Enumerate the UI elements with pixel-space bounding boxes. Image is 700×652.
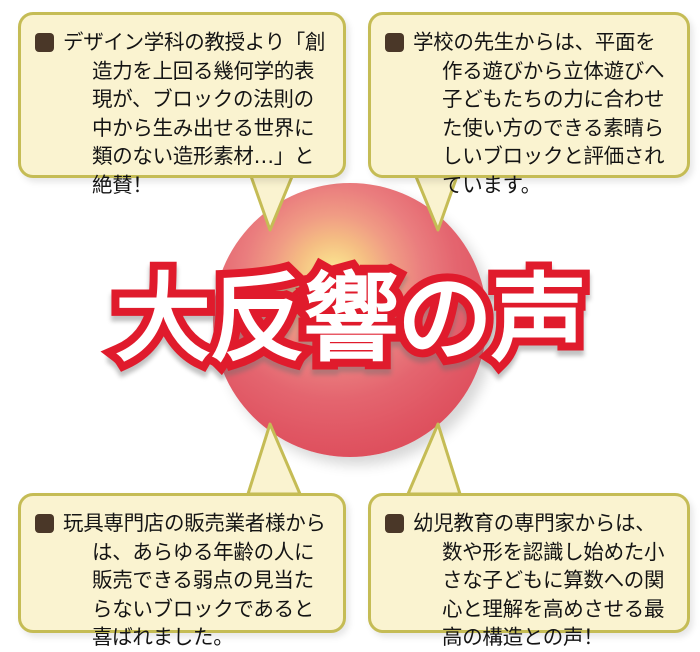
bubble-content: 幼児教育の専門家からは、数や形を認識し始めた小さな子どもに算数への関心と理解を高… (385, 509, 673, 652)
promo-graphic-stage: 大反響の声 大反響の声 大反響の声 デザイン学科の教授より「創造力を上回る幾何学… (0, 0, 700, 650)
testimonial-bubble-early-childhood-expert: 幼児教育の専門家からは、数や形を認識し始めた小さな子どもに算数への関心と理解を高… (368, 493, 690, 633)
testimonial-bubble-toy-retailer: 玩具専門店の販売業者様からは、あらゆる年齢の人に販売できる弱点の見当たらないブロ… (18, 493, 346, 633)
square-bullet-icon (35, 514, 54, 533)
square-bullet-icon (35, 33, 54, 52)
testimonial-text: デザイン学科の教授より「創造力を上回る幾何学的表現が、ブロックの法則の中から生み… (63, 28, 329, 199)
bubble-content: 学校の先生からは、平面を作る遊びから立体遊びへ子どもたちの力に合わせた使い方ので… (385, 28, 673, 199)
testimonial-text: 幼児教育の専門家からは、数や形を認識し始めた小さな子どもに算数への関心と理解を高… (413, 509, 673, 652)
bubble-content: デザイン学科の教授より「創造力を上回る幾何学的表現が、ブロックの法則の中から生み… (35, 28, 329, 199)
testimonial-bubble-design-professor: デザイン学科の教授より「創造力を上回る幾何学的表現が、ブロックの法則の中から生み… (18, 12, 346, 178)
bubble-content: 玩具専門店の販売業者様からは、あらゆる年齢の人に販売できる弱点の見当たらないブロ… (35, 509, 329, 652)
testimonial-text: 玩具専門店の販売業者様からは、あらゆる年齢の人に販売できる弱点の見当たらないブロ… (63, 509, 329, 652)
square-bullet-icon (385, 33, 404, 52)
testimonial-bubble-school-teacher: 学校の先生からは、平面を作る遊びから立体遊びへ子どもたちの力に合わせた使い方ので… (368, 12, 690, 178)
central-red-sphere (213, 183, 487, 457)
testimonial-text: 学校の先生からは、平面を作る遊びから立体遊びへ子どもたちの力に合わせた使い方ので… (413, 28, 673, 199)
sphere-gradient-body (213, 183, 487, 457)
square-bullet-icon (385, 514, 404, 533)
